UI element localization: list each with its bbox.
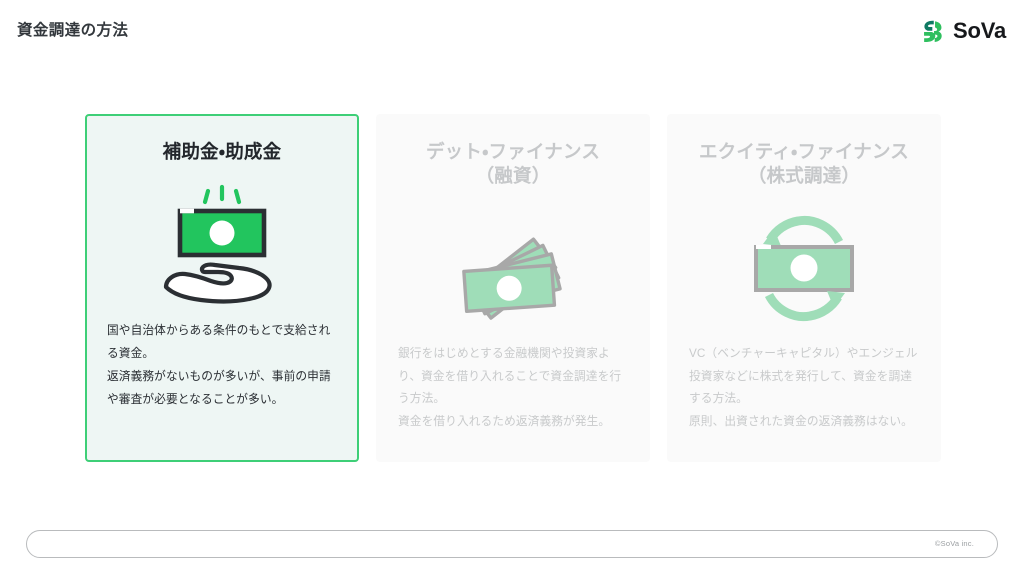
card-description: 国や自治体からある条件のもとで支給される資金。 返済義務がないものが多いが、事前… [106, 320, 338, 411]
card-equity-finance[interactable]: エクイティ・ファイナンス （株式調達） VC（ベンチャーキャピタル）やエンジェル… [667, 114, 941, 462]
funding-method-card-list: 補助金・助成金 国や自治体からある条件のもとで支給される資金。 返済義務がないも… [85, 114, 941, 462]
sova-s-logo-icon [919, 18, 946, 45]
brand-wordmark: SoVa [953, 20, 1006, 42]
card-title: デット・ファイナンス （融資） [426, 140, 600, 189]
hand-holding-cash-icon [106, 170, 338, 320]
card-description: VC（ベンチャーキャピタル）やエンジェル投資家などに株式を発行して、資金を調達す… [688, 343, 920, 434]
card-debt-finance[interactable]: デット・ファイナンス （融資） [376, 114, 650, 462]
page-header: 資金調達の方法 SoVa [0, 0, 1024, 62]
card-title: エクイティ・ファイナンス （株式調達） [699, 140, 909, 189]
footer-bar: ©SoVa inc. [26, 530, 998, 558]
fanned-banknotes-icon [397, 193, 629, 343]
brand-logo: SoVa [919, 18, 1006, 45]
cash-cycle-arrows-icon [688, 193, 920, 343]
card-subsidy[interactable]: 補助金・助成金 国や自治体からある条件のもとで支給される資金。 返済義務がないも… [85, 114, 359, 462]
page-title: 資金調達の方法 [17, 23, 128, 39]
card-description: 銀行をはじめとする金融機関や投資家より、資金を借り入れることで資金調達を行う方法… [397, 343, 629, 434]
card-title: 補助金・助成金 [163, 140, 282, 164]
copyright-text: ©SoVa inc. [935, 540, 974, 548]
